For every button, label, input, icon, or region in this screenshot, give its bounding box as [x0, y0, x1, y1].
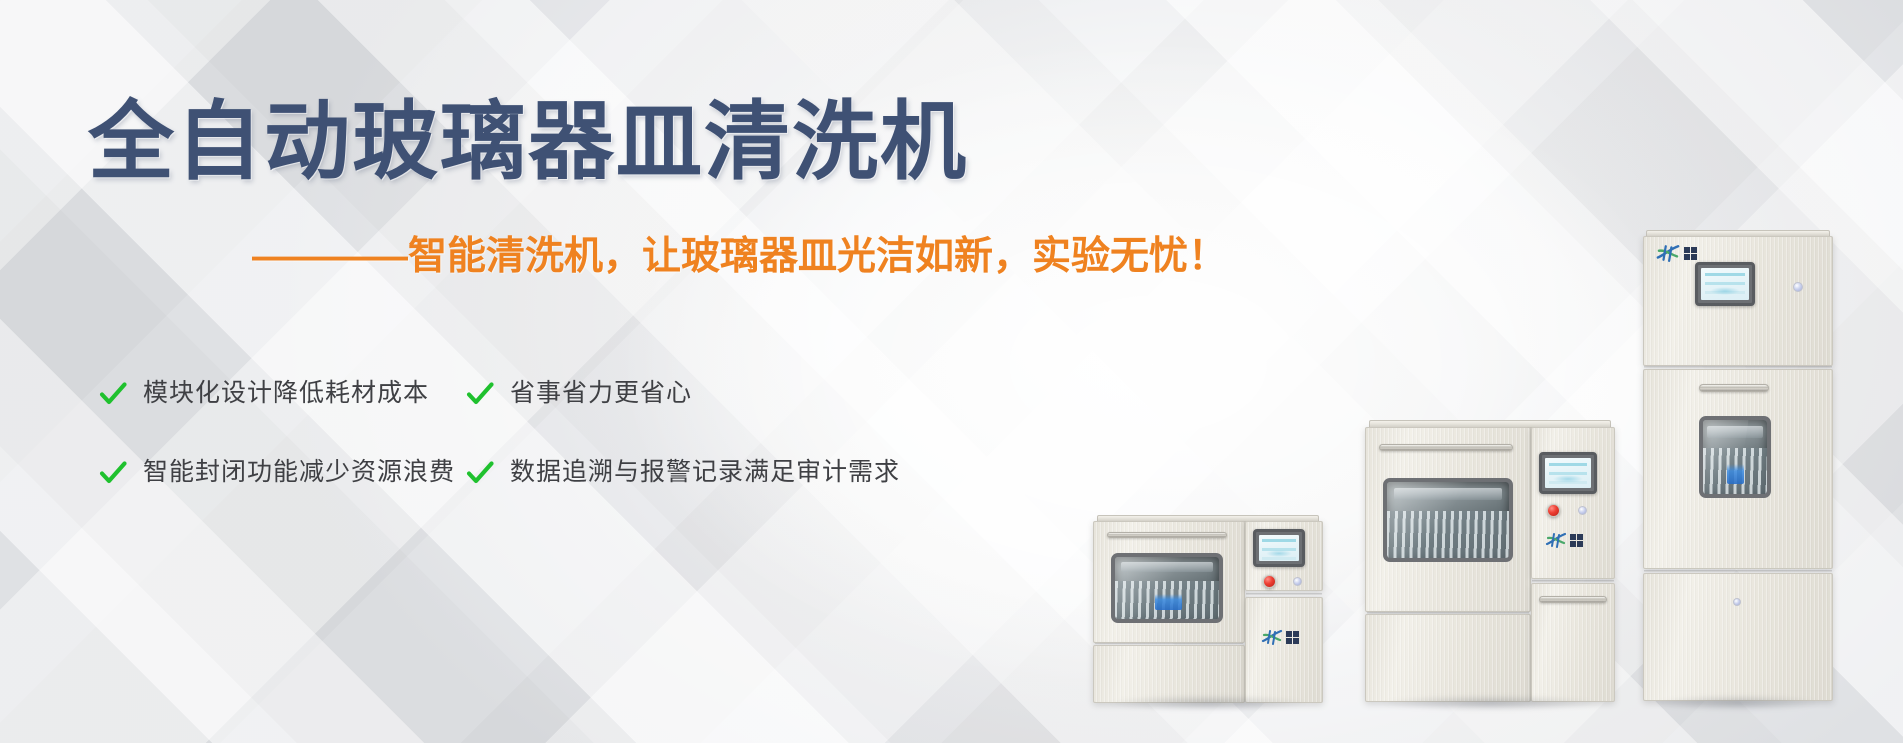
brand-logo — [1655, 244, 1697, 262]
brand-logo — [1261, 629, 1299, 645]
feature-label: 省事省力更省心 — [510, 378, 692, 409]
service-drawer-handle — [1539, 596, 1607, 603]
product-freestanding-glassware-washer — [1365, 420, 1615, 705]
power-indicator-light[interactable] — [1578, 506, 1587, 515]
chamber-viewing-window — [1699, 416, 1771, 498]
feature-list: 模块化设计降低耗材成本 省事省力更省心 — [98, 378, 1118, 537]
banner-copy: 全自动玻璃器皿清洗机 ————智能清洗机，让玻璃器皿光洁如新，实验无忧！ 模块化… — [0, 0, 1150, 743]
product-tall-column-glassware-washer — [1643, 230, 1833, 705]
control-column — [1531, 427, 1615, 579]
page-subtitle: ————智能清洗机，让玻璃器皿光洁如新，实验无忧！ — [252, 236, 1227, 279]
power-indicator-light[interactable] — [1793, 282, 1803, 292]
base-drawer — [1643, 573, 1833, 701]
feature-label: 数据追溯与报警记录满足审计需求 — [510, 457, 900, 488]
touchscreen-display[interactable] — [1695, 262, 1755, 306]
drop-shadow — [1654, 695, 1821, 711]
feature-label: 智能封闭功能减少资源浪费 — [143, 457, 455, 488]
check-icon — [465, 379, 495, 409]
brand-characters — [1570, 534, 1583, 547]
brand-characters — [1286, 631, 1299, 644]
touchscreen-display[interactable] — [1539, 452, 1597, 494]
feature-row: 智能封闭功能减少资源浪费 数据追溯与报警记录满足审计需求 — [98, 457, 1118, 488]
check-icon — [465, 458, 495, 488]
brand-characters — [1684, 247, 1697, 260]
chamber-door-handle — [1699, 384, 1769, 392]
emergency-stop-button[interactable] — [1263, 575, 1276, 588]
chamber-door-handle — [1379, 444, 1513, 451]
check-icon — [98, 379, 128, 409]
feature-row: 模块化设计降低耗材成本 省事省力更省心 — [98, 378, 1118, 409]
list-item: 模块化设计降低耗材成本 — [98, 378, 465, 409]
panel-seam — [1246, 593, 1322, 596]
chamber-viewing-window — [1383, 478, 1513, 562]
page-title: 全自动玻璃器皿清洗机 — [88, 96, 968, 189]
service-panel — [1245, 597, 1323, 703]
product-image-group — [1083, 0, 1903, 743]
list-item: 智能封闭功能减少资源浪费 — [98, 457, 465, 488]
list-item: 省事省力更省心 — [465, 378, 1118, 409]
brand-logo — [1545, 532, 1583, 548]
list-item: 数据追溯与报警记录满足审计需求 — [465, 457, 1118, 488]
power-indicator-light[interactable] — [1293, 577, 1302, 586]
check-icon — [98, 458, 128, 488]
base-latch-icon — [1733, 598, 1741, 606]
product-banner: 全自动玻璃器皿清洗机 ————智能清洗机，让玻璃器皿光洁如新，实验无忧！ 模块化… — [0, 0, 1903, 743]
touchscreen-display[interactable] — [1253, 529, 1305, 567]
feature-label: 模块化设计降低耗材成本 — [143, 378, 429, 409]
drop-shadow — [1380, 695, 1600, 711]
emergency-stop-button[interactable] — [1547, 504, 1560, 517]
lower-drawer-left — [1365, 614, 1531, 702]
